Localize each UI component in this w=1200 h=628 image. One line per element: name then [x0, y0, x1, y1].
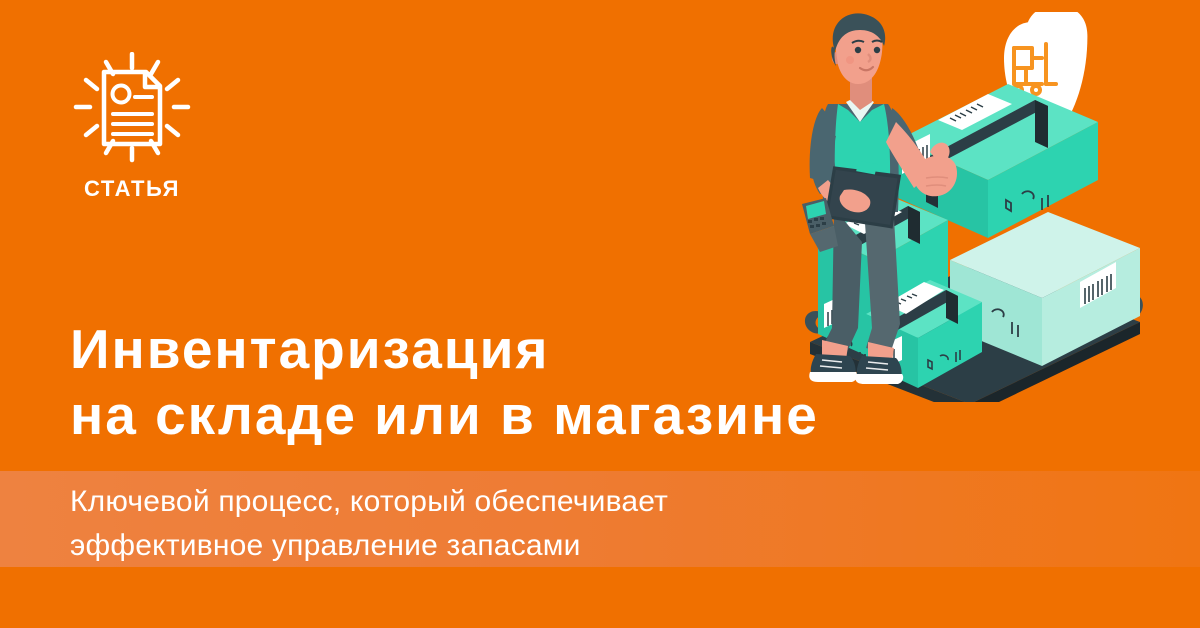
- page-subtitle: Ключевой процесс, который обеспечивает э…: [70, 480, 1070, 568]
- page-title: Инвентаризация на складе или в магазине: [70, 316, 1150, 448]
- document-rays-icon: [66, 52, 198, 172]
- article-mark: СТАТЬЯ: [66, 52, 198, 212]
- article-label: СТАТЬЯ: [66, 176, 198, 202]
- article-banner: СТАТЬЯ: [0, 0, 1200, 628]
